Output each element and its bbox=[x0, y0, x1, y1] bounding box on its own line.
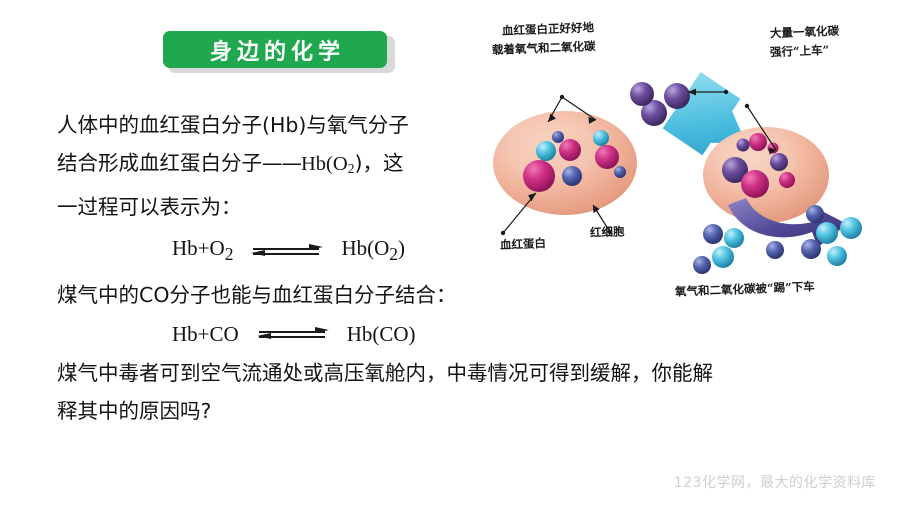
hemoglobin-sphere-r3 bbox=[779, 172, 795, 188]
co-label-pointer-dot bbox=[724, 90, 728, 94]
released-o2-3 bbox=[816, 222, 838, 244]
reversible-arrow-icon bbox=[251, 240, 323, 262]
hemoglobin-sphere-r4 bbox=[741, 170, 769, 198]
equation1-left-text: Hb+O bbox=[172, 236, 225, 260]
released-o2-2 bbox=[712, 246, 734, 268]
label-hemoglobin: 血红蛋白 bbox=[500, 236, 547, 253]
caption-co-boarding-line2: 强行“上车” bbox=[770, 43, 830, 60]
equation1-right: Hb(O2) bbox=[341, 228, 405, 274]
equation1-right-paren: ) bbox=[398, 236, 405, 260]
left-red-blood-cell-diagram bbox=[493, 95, 637, 235]
formula-hb-o: Hb(O bbox=[301, 153, 348, 175]
equation2-right: Hb(CO) bbox=[347, 314, 416, 354]
hemoglobin-sphere bbox=[559, 139, 581, 161]
paragraph3-line1: 煤气中毒者可到空气流通处或高压氧舱内，中毒情况可得到缓解，你能解 bbox=[57, 354, 867, 392]
co2-sphere-3 bbox=[614, 166, 626, 178]
section-badge: 身边的化学 bbox=[163, 31, 395, 73]
pointer-dot-top bbox=[560, 95, 564, 99]
right-co-poisoning-diagram bbox=[630, 72, 862, 274]
released-co2-2 bbox=[693, 256, 711, 274]
paragraph3-line2: 释其中的原因吗? bbox=[57, 392, 867, 430]
oxygen-sphere bbox=[536, 141, 556, 161]
co-sphere-in-1 bbox=[664, 83, 690, 109]
released-co2-5 bbox=[766, 241, 784, 259]
co-sphere-inside-1 bbox=[737, 139, 750, 152]
paragraph1-line2-dash: —— bbox=[262, 151, 301, 175]
hemoglobin-sphere-3 bbox=[595, 145, 619, 169]
equation1-left-sub: 2 bbox=[225, 244, 234, 264]
released-o2-1 bbox=[724, 228, 744, 248]
badge-body: 身边的化学 bbox=[163, 31, 387, 68]
slide-canvas: 身边的化学 人体中的血红蛋白分子(Hb)与氧气分子 结合形成血红蛋白分子——Hb… bbox=[0, 0, 900, 506]
hemoglobin-sphere-r1 bbox=[749, 133, 767, 151]
co2-sphere bbox=[552, 131, 564, 143]
equation1-right-sub: 2 bbox=[389, 244, 398, 264]
hemoglobin-sphere-large bbox=[523, 160, 555, 192]
released-o2-5 bbox=[840, 217, 862, 239]
equation2-left: Hb+CO bbox=[172, 314, 239, 354]
released-o2-4 bbox=[827, 246, 847, 266]
paragraph1-line2-part-c: )，这 bbox=[354, 151, 403, 175]
paragraph1-line2-formula: Hb(O2 bbox=[301, 153, 354, 175]
released-co2-1 bbox=[703, 224, 723, 244]
equation1-right-text: Hb(O bbox=[341, 236, 389, 260]
label-red-blood-cell: 红细胞 bbox=[590, 224, 625, 240]
released-co2-4 bbox=[801, 239, 821, 259]
co2-sphere-2 bbox=[562, 166, 582, 186]
caption-co-boarding-line1: 大量一氧化碳 bbox=[770, 24, 840, 42]
paragraph1-line2-part-a: 结合形成血红蛋白分子 bbox=[57, 151, 262, 175]
co-sphere-inside-2 bbox=[770, 153, 788, 171]
reversible-arrow-icon-2 bbox=[257, 323, 329, 345]
illustration-group: 血红蛋白正好好地 载着氧气和二氧化碳 血红蛋白 红细胞 大量一氧化碳 强行“上车… bbox=[470, 0, 900, 330]
equation1-left: Hb+O2 bbox=[172, 228, 233, 274]
co-sphere-in-3 bbox=[630, 82, 654, 106]
released-co2-3 bbox=[806, 205, 824, 223]
footer-watermark: 123化学网，最大的化学资料库 bbox=[674, 472, 876, 492]
badge-label: 身边的化学 bbox=[205, 34, 345, 66]
pointer-dot-hemoglobin bbox=[501, 231, 505, 235]
co-inside-pointer-dot bbox=[745, 104, 749, 108]
oxygen-sphere-2 bbox=[593, 130, 609, 146]
